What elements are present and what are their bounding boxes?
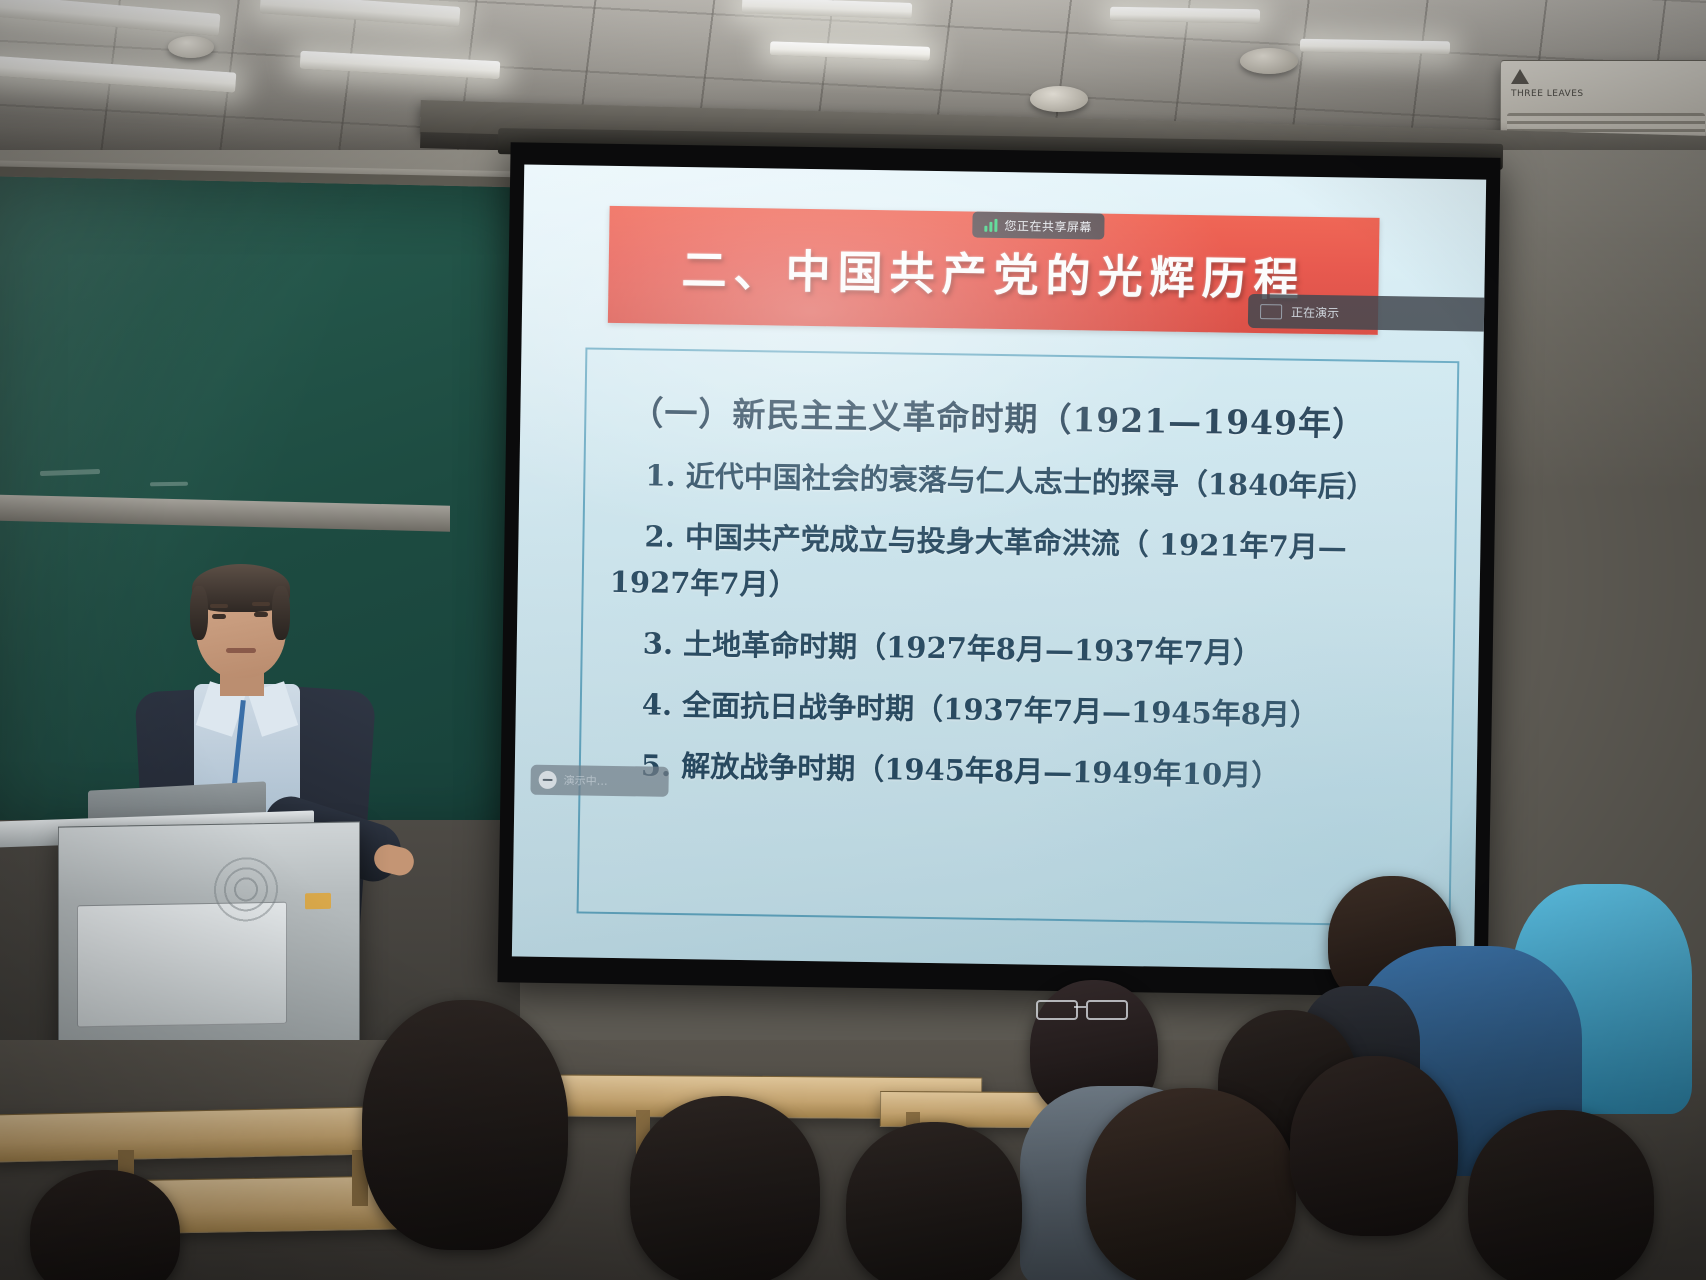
slide-content-box: （一）新民主主义革命时期（1921—1949年） 1. 近代中国社会的衰落与仁人… [577, 347, 1460, 927]
ac-brand-logo-icon [1511, 69, 1529, 84]
ac-brand-label: THREE LEAVES [1511, 89, 1584, 99]
audience-glasses-icon [1036, 1000, 1128, 1016]
projection-screen-frame: 二、中国共产党的光辉历程 （一）新民主主义革命时期（1921—1949年） 1.… [497, 142, 1500, 997]
collapse-minus-icon[interactable] [539, 771, 557, 789]
audience-head [362, 1000, 568, 1250]
presenting-label: 正在演示 [1291, 303, 1339, 321]
fluorescent-light [1110, 7, 1260, 24]
audience-head [30, 1170, 180, 1280]
smoke-detector-icon [168, 36, 214, 58]
more-dots-icon[interactable] [1485, 313, 1486, 316]
slide-bullet-5: 5. 解放战争时期（1945年8月—1949年10月） [641, 750, 1425, 793]
projection-screen: 二、中国共产党的光辉历程 （一）新民主主义革命时期（1921—1949年） 1.… [512, 164, 1486, 971]
ceiling-speaker [1240, 48, 1298, 74]
chalk-stick [150, 482, 188, 487]
audience-head [630, 1096, 820, 1280]
fluorescent-light [1300, 39, 1450, 55]
collapsed-meeting-toolbar[interactable]: 演示中… [530, 765, 668, 797]
slide-section-heading: （一）新民主主义革命时期（1921—1949年） [630, 386, 1431, 447]
presenter-mouth [226, 648, 256, 653]
slide-bullet-2-wrap: 1927年7月） [610, 567, 1428, 611]
collapsed-toolbar-label: 演示中… [564, 772, 608, 789]
signal-bars-icon [984, 218, 997, 231]
screen-share-badge[interactable]: 您正在共享屏幕 [972, 212, 1104, 240]
screen-share-label: 您正在共享屏幕 [1004, 217, 1092, 235]
presenter-eyebrow-right [252, 602, 270, 606]
audience-head [846, 1122, 1022, 1280]
podium [58, 821, 360, 1068]
presenter-eyebrow-left [210, 604, 228, 608]
ceiling-speaker [1030, 86, 1088, 112]
screen-thumbnail-icon [1260, 304, 1282, 319]
slide-bullet-1: 1. 近代中国社会的衰落与仁人志士的探寻（1840年后） [645, 460, 1429, 503]
audience-head [1290, 1056, 1458, 1236]
presenter-eye-right [254, 612, 268, 617]
presenter-eye-left [212, 614, 226, 619]
lecture-hall-scene: THREE LEAVES 二、中国共产党的光辉历程 （一）新民主主义革命时期（1… [0, 0, 1706, 1280]
audience-head [1086, 1088, 1296, 1280]
slide-bullet-4: 4. 全面抗日战争时期（1937年7月—1945年8月） [642, 689, 1426, 732]
presentation-slide: 二、中国共产党的光辉历程 （一）新民主主义革命时期（1921—1949年） 1.… [512, 164, 1486, 971]
audience-head [1468, 1110, 1654, 1280]
slide-content-inner: （一）新民主主义革命时期（1921—1949年） 1. 近代中国社会的衰落与仁人… [579, 350, 1458, 926]
slide-bullet-3: 3. 土地革命时期（1927年8月—1937年7月） [643, 629, 1427, 672]
presenter-hair-side-right [272, 586, 290, 640]
podium-control-button[interactable] [305, 893, 331, 909]
presenter-hair-side-left [190, 586, 208, 640]
slide-bullet-2: 2. 中国共产党成立与投身大革命洪流（ 1921年7月— [644, 521, 1428, 564]
presenting-toolbar[interactable]: 正在演示 [1248, 294, 1486, 332]
